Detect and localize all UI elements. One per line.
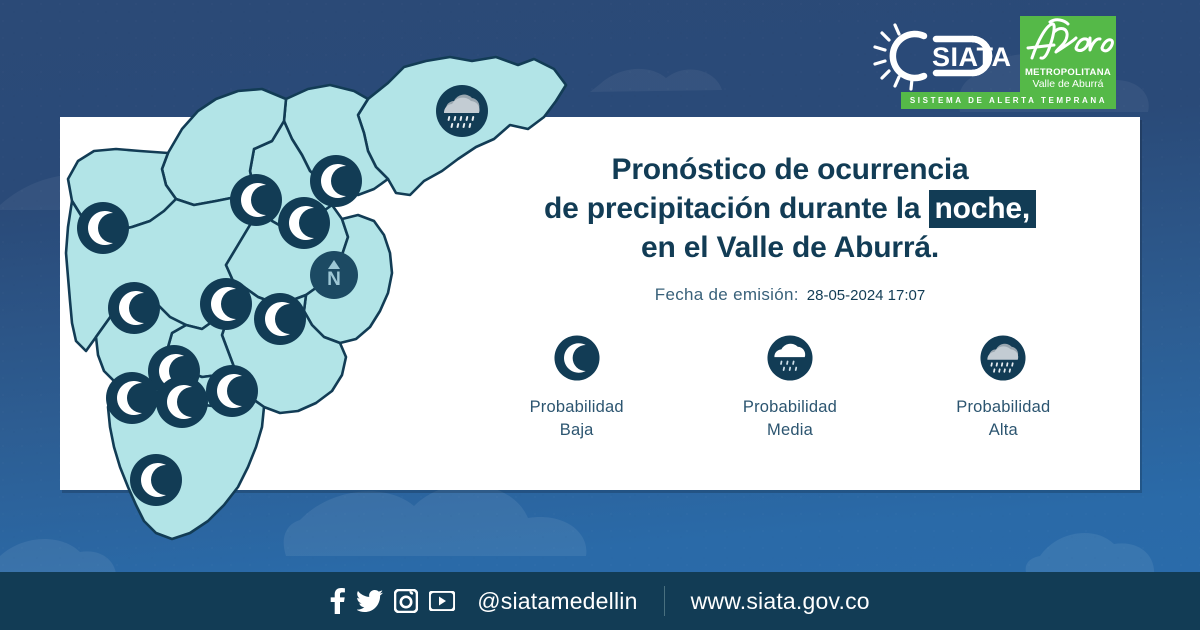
legend-item-baja: Probabilidad Baja — [487, 332, 667, 442]
area-logo-line2: Valle de Aburrá — [1032, 78, 1103, 90]
marker-san-jeronimo[interactable] — [77, 202, 129, 254]
valle-de-aburra-map: N — [58, 55, 578, 565]
footer-divider — [664, 586, 665, 616]
legend-label-media: Probabilidad Media — [743, 396, 837, 442]
legend-item-media: Probabilidad Media — [700, 332, 880, 442]
poster-canvas: SIATA METROPOLITANA Valle de Aburrá SIST… — [0, 0, 1200, 630]
legend-baja-line1: Probabilidad — [530, 396, 624, 419]
marker-copacabana[interactable] — [278, 197, 330, 249]
moon-icon — [551, 332, 603, 384]
marker-sabaneta[interactable] — [156, 376, 208, 428]
marker-guarne[interactable] — [254, 293, 306, 345]
legend-label-alta: Probabilidad Alta — [956, 396, 1050, 442]
legend-alta-line1: Probabilidad — [956, 396, 1050, 419]
heavy-rain-cloud-icon — [977, 332, 1029, 384]
compass-label: N — [327, 269, 341, 290]
emission-date-label: Fecha de emisión: — [655, 285, 799, 305]
title-highlight-noche: noche, — [929, 190, 1036, 228]
marker-medellin[interactable] — [108, 282, 160, 334]
twitter-icon[interactable] — [357, 590, 383, 612]
legend-alta-line2: Alta — [956, 419, 1050, 442]
youtube-icon[interactable] — [429, 591, 455, 611]
title-line-1: Pronóstico de ocurrencia — [470, 150, 1110, 189]
marker-bello[interactable] — [200, 278, 252, 330]
area-script-icon — [1020, 18, 1116, 64]
legend-label-baja: Probabilidad Baja — [530, 396, 624, 442]
page-title: Pronóstico de ocurrencia de precipitació… — [470, 150, 1110, 267]
legend-media-line2: Media — [743, 419, 837, 442]
legend-item-alta: Probabilidad Alta — [913, 332, 1093, 442]
footer-content: @siatamedellin www.siata.gov.co — [330, 586, 870, 616]
marker-barbosa[interactable] — [436, 85, 488, 137]
legend-media-line1: Probabilidad — [743, 396, 837, 419]
marker-caldas[interactable] — [130, 454, 182, 506]
area-logo-line1: METROPOLITANA — [1025, 67, 1111, 78]
tagline-text: SISTEMA DE ALERTA TEMPRANA — [910, 96, 1107, 105]
title-line-3: en el Valle de Aburrá. — [470, 228, 1110, 267]
legend-baja-line2: Baja — [530, 419, 624, 442]
emission-date-row: Fecha de emisión: 28-05-2024 17:07 — [470, 285, 1110, 305]
social-icons — [330, 588, 455, 614]
emission-date-value: 28-05-2024 17:07 — [807, 287, 925, 304]
svg-text:SIATA: SIATA — [932, 42, 1012, 72]
marker-san-pedro[interactable] — [230, 174, 282, 226]
cloud-rain-moon-icon — [764, 332, 816, 384]
title-line-2-text: de precipitación durante la — [544, 192, 929, 225]
forecast-panel: Pronóstico de ocurrencia de precipitació… — [470, 150, 1110, 305]
instagram-icon[interactable] — [394, 589, 418, 613]
footer-bar: @siatamedellin www.siata.gov.co — [0, 572, 1200, 630]
compass-rose: N — [310, 251, 358, 299]
probability-legend: Probabilidad Baja Probabilidad — [470, 332, 1110, 442]
tagline-band: SISTEMA DE ALERTA TEMPRANA — [901, 92, 1116, 109]
marker-la-estrella[interactable] — [106, 372, 158, 424]
marker-girardota[interactable] — [310, 155, 362, 207]
logo-block: SIATA METROPOLITANA Valle de Aburrá — [872, 16, 1116, 94]
area-metropolitana-logo: METROPOLITANA Valle de Aburrá — [1020, 16, 1116, 94]
social-handle[interactable]: @siatamedellin — [477, 588, 637, 615]
title-line-2: de precipitación durante la noche, — [470, 189, 1110, 228]
siata-logo: SIATA — [872, 16, 1012, 94]
website-url[interactable]: www.siata.gov.co — [691, 588, 870, 615]
facebook-icon[interactable] — [330, 588, 346, 614]
marker-envigado[interactable] — [206, 365, 258, 417]
